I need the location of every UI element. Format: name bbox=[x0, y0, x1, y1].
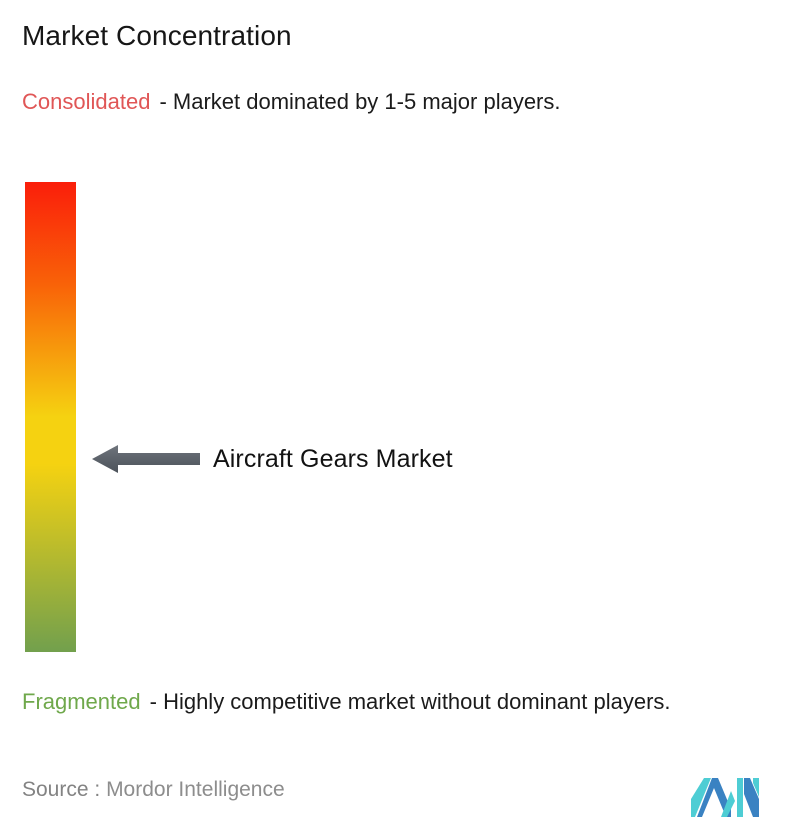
market-position-annotation: Aircraft Gears Market bbox=[92, 441, 453, 477]
consolidated-description: - Market dominated by 1-5 major players. bbox=[159, 89, 560, 114]
source-attribution: Source : Mordor Intelligence bbox=[22, 778, 285, 802]
consolidated-caption: Consolidated- Market dominated by 1-5 ma… bbox=[22, 86, 784, 118]
fragmented-description: - Highly competitive market without domi… bbox=[150, 689, 671, 714]
page-title: Market Concentration bbox=[22, 20, 292, 52]
left-arrow-icon bbox=[92, 443, 200, 475]
market-concentration-scale-bar bbox=[25, 182, 76, 652]
market-position-label: Aircraft Gears Market bbox=[213, 445, 453, 474]
consolidated-keyword: Consolidated bbox=[22, 89, 150, 114]
fragmented-keyword: Fragmented bbox=[22, 689, 141, 714]
mordor-intelligence-logo bbox=[691, 771, 759, 821]
source-value: Mordor Intelligence bbox=[106, 778, 285, 801]
source-label: Source : bbox=[22, 778, 100, 801]
fragmented-caption: Fragmented- Highly competitive market wi… bbox=[22, 686, 790, 718]
